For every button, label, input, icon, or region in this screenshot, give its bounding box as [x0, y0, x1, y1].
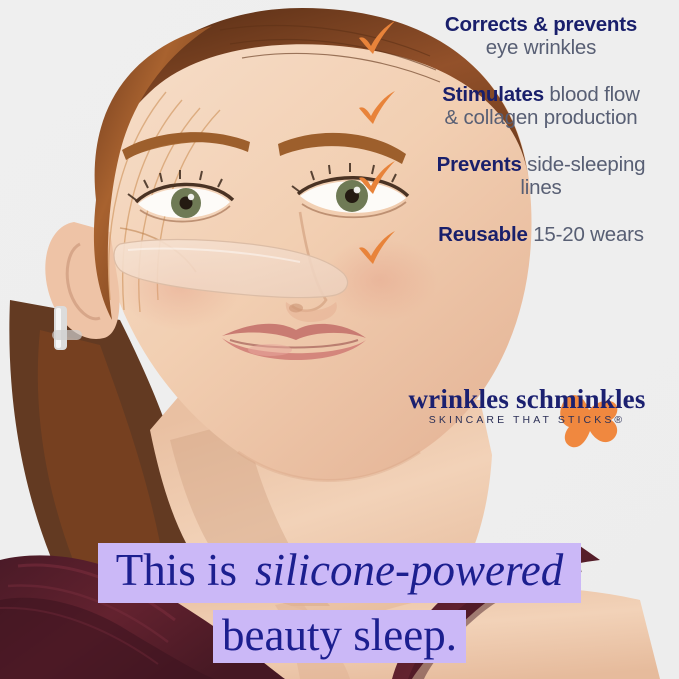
benefit-regular: blood flow [544, 83, 640, 106]
benefit-bold: Prevents [437, 153, 522, 176]
headline-line-1: This is silicone-powered [0, 543, 679, 603]
headline-part-italic: silicone-powered [246, 545, 572, 599]
check-icon [356, 158, 398, 198]
benefit-regular-2: lines [520, 176, 561, 199]
headline-line-2: beauty sleep. [0, 610, 679, 664]
benefits-list: Corrects & prevents eye wrinkles Stimula… [356, 14, 674, 270]
benefit-bold: Stimulates [442, 83, 544, 106]
benefit-regular-2: & collagen production [445, 106, 638, 129]
brand-wordmark: wrinkles schminkles [396, 384, 658, 415]
list-item: Reusable 15-20 wears [356, 224, 674, 258]
check-icon [356, 228, 398, 268]
headline-line-2-text: beauty sleep. [213, 610, 466, 664]
benefit-bold: Reusable [438, 223, 528, 246]
list-item: Stimulates blood flow & collagen product… [356, 84, 674, 142]
headline-banner: This is silicone-powered beauty sleep. [0, 543, 679, 663]
check-icon [356, 18, 398, 58]
benefit-regular: eye wrinkles [486, 36, 596, 59]
list-item: Corrects & prevents eye wrinkles [356, 14, 674, 72]
benefit-regular: side-sleeping [522, 153, 646, 176]
benefit-bold: Corrects & prevents [445, 13, 637, 36]
brand-tagline: SKINCARE THAT STICKS® [396, 414, 658, 426]
check-icon [356, 88, 398, 128]
benefit-regular: 15-20 wears [528, 223, 644, 246]
promo-image: Corrects & prevents eye wrinkles Stimula… [0, 0, 679, 679]
headline-part-plain: This is [107, 545, 246, 599]
list-item: Prevents side-sleeping lines [356, 154, 674, 212]
brand-logo: wrinkles schminkles SKINCARE THAT STICKS… [396, 384, 666, 446]
